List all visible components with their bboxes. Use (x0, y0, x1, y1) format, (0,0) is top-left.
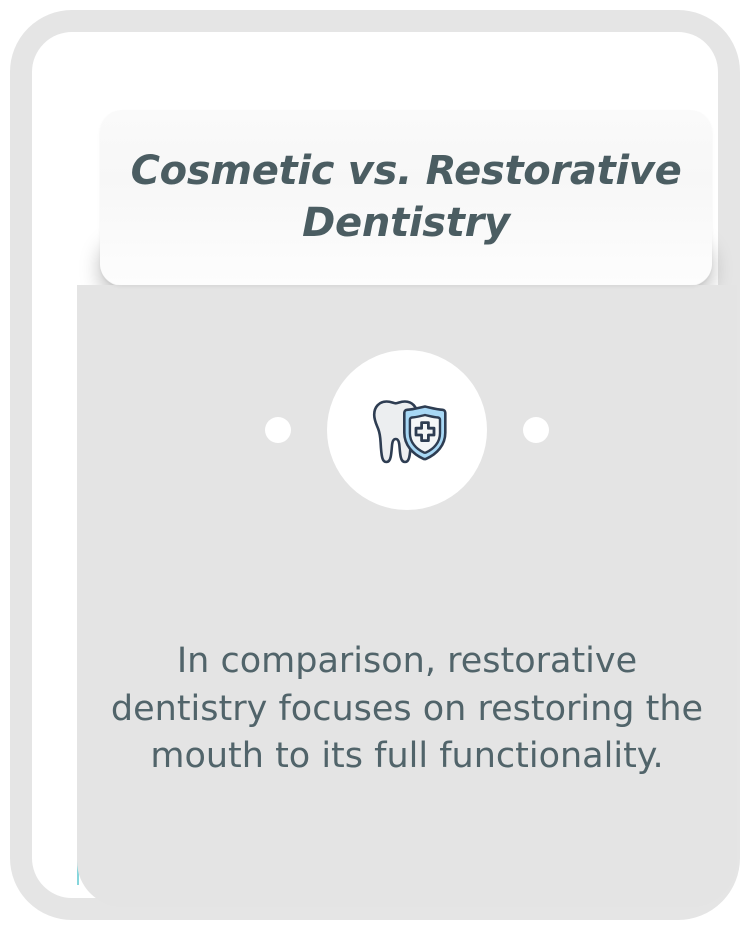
card-frame: In comparison, restorative dentistry foc… (10, 10, 740, 920)
left-dot-decoration (265, 417, 291, 443)
page-title: Cosmetic vs. Restorative Dentistry (100, 146, 712, 248)
icon-row (77, 340, 737, 520)
title-card: Cosmetic vs. Restorative Dentistry (100, 110, 712, 285)
content-panel: In comparison, restorative dentistry foc… (77, 285, 737, 907)
icon-badge (327, 350, 487, 510)
tooth-shield-icon (355, 378, 459, 482)
card-body-text: In comparison, restorative dentistry foc… (99, 638, 715, 781)
right-dot-decoration (523, 417, 549, 443)
